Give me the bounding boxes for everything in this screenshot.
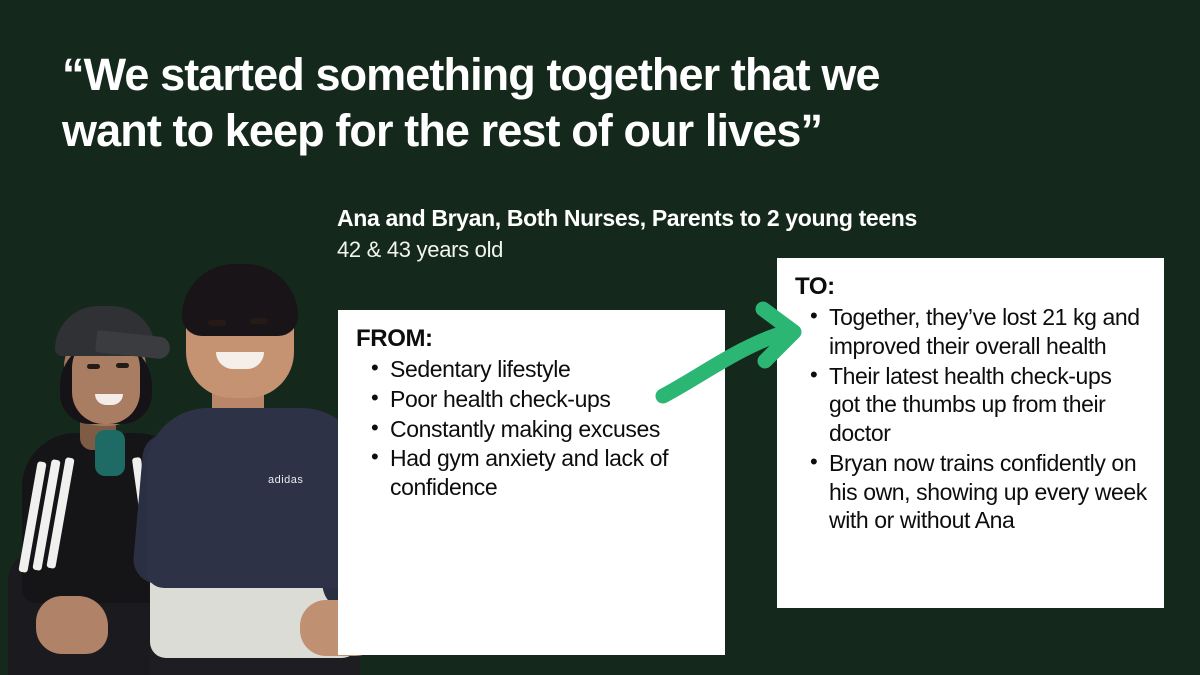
- list-item: Together, they’ve lost 21 kg and improve…: [829, 303, 1148, 361]
- testimonial-slide: “We started something together that we w…: [0, 0, 1200, 675]
- photo-man-sweatshirt: [146, 408, 364, 588]
- list-item: Poor health check-ups: [390, 385, 709, 414]
- from-card-list: Sedentary lifestyle Poor health check-up…: [338, 355, 725, 502]
- list-item: Their latest health check-ups got the th…: [829, 362, 1148, 448]
- from-card: FROM: Sedentary lifestyle Poor health ch…: [338, 310, 725, 655]
- photo-woman-eye-right: [116, 363, 129, 368]
- photo-man-eye-right: [250, 318, 268, 324]
- list-item: Had gym anxiety and lack of confidence: [390, 444, 709, 502]
- list-item: Bryan now trains confidently on his own,…: [829, 449, 1148, 535]
- photo-man-eye-left: [208, 320, 226, 326]
- photo-man-hair: [182, 264, 298, 336]
- photo-woman-hands: [36, 596, 108, 654]
- couple-photo: adidas: [0, 248, 395, 675]
- from-card-label: FROM:: [338, 310, 725, 353]
- to-card-label: TO:: [777, 258, 1164, 301]
- to-card-list: Together, they’ve lost 21 kg and improve…: [777, 303, 1164, 535]
- adidas-logo-text: adidas: [268, 474, 320, 486]
- photo-woman-eye-left: [87, 364, 100, 369]
- to-card: TO: Together, they’ve lost 21 kg and imp…: [777, 258, 1164, 608]
- subject-names-and-role: Ana and Bryan, Both Nurses, Parents to 2…: [337, 204, 1037, 233]
- list-item: Sedentary lifestyle: [390, 355, 709, 384]
- list-item: Constantly making excuses: [390, 415, 709, 444]
- photo-woman-shirt: [95, 430, 125, 476]
- subject-info: Ana and Bryan, Both Nurses, Parents to 2…: [337, 204, 1037, 264]
- page-title: “We started something together that we w…: [62, 47, 992, 160]
